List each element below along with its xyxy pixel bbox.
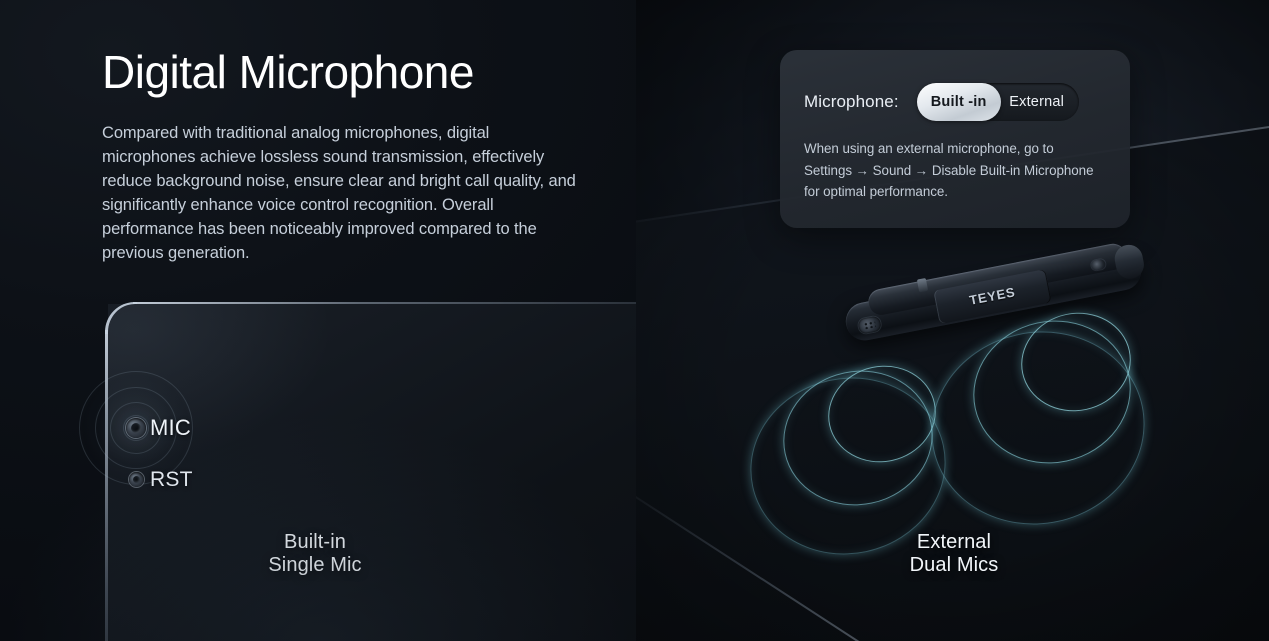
description-paragraph: Compared with traditional analog microph… [102, 121, 584, 265]
reset-pinhole-icon [129, 472, 144, 487]
toggle-option-external[interactable]: External [1001, 83, 1079, 121]
page-title: Digital Microphone [102, 44, 474, 100]
microphone-instruction-note: When using an external microphone, go to… [804, 138, 1110, 203]
right-caption-line2: Dual Mics [834, 554, 1074, 577]
promo-page: Digital Microphone Compared with traditi… [0, 0, 1269, 641]
right-caption: External Dual Mics [834, 531, 1074, 577]
left-caption-line1: Built-in [284, 531, 346, 553]
left-caption: Built-in Single Mic [195, 531, 435, 577]
microphone-port-icon [126, 418, 146, 438]
mic-port-label: MIC [150, 415, 191, 441]
microphone-setting-row: Microphone: Built -in External [804, 83, 1079, 121]
toggle-option-built-in[interactable]: Built -in [917, 83, 1001, 121]
microphone-settings-card: Microphone: Built -in External When usin… [780, 50, 1130, 228]
rst-port-label: RST [150, 468, 193, 492]
device-corner-highlight [105, 302, 137, 334]
right-caption-line1: External [917, 531, 991, 553]
left-panel: Digital Microphone Compared with traditi… [0, 0, 636, 641]
device-top-edge [133, 302, 636, 304]
device-left-edge [105, 330, 108, 641]
microphone-label: Microphone: [804, 92, 899, 112]
note-line-2: Settings → Sound → Disable Built-in Micr… [804, 160, 1110, 182]
left-caption-line2: Single Mic [195, 554, 435, 577]
microphone-source-toggle[interactable]: Built -in External [917, 83, 1079, 121]
note-line-1: When using an external microphone, go to [804, 138, 1110, 160]
note-line-3: for optimal performance. [804, 181, 1110, 203]
